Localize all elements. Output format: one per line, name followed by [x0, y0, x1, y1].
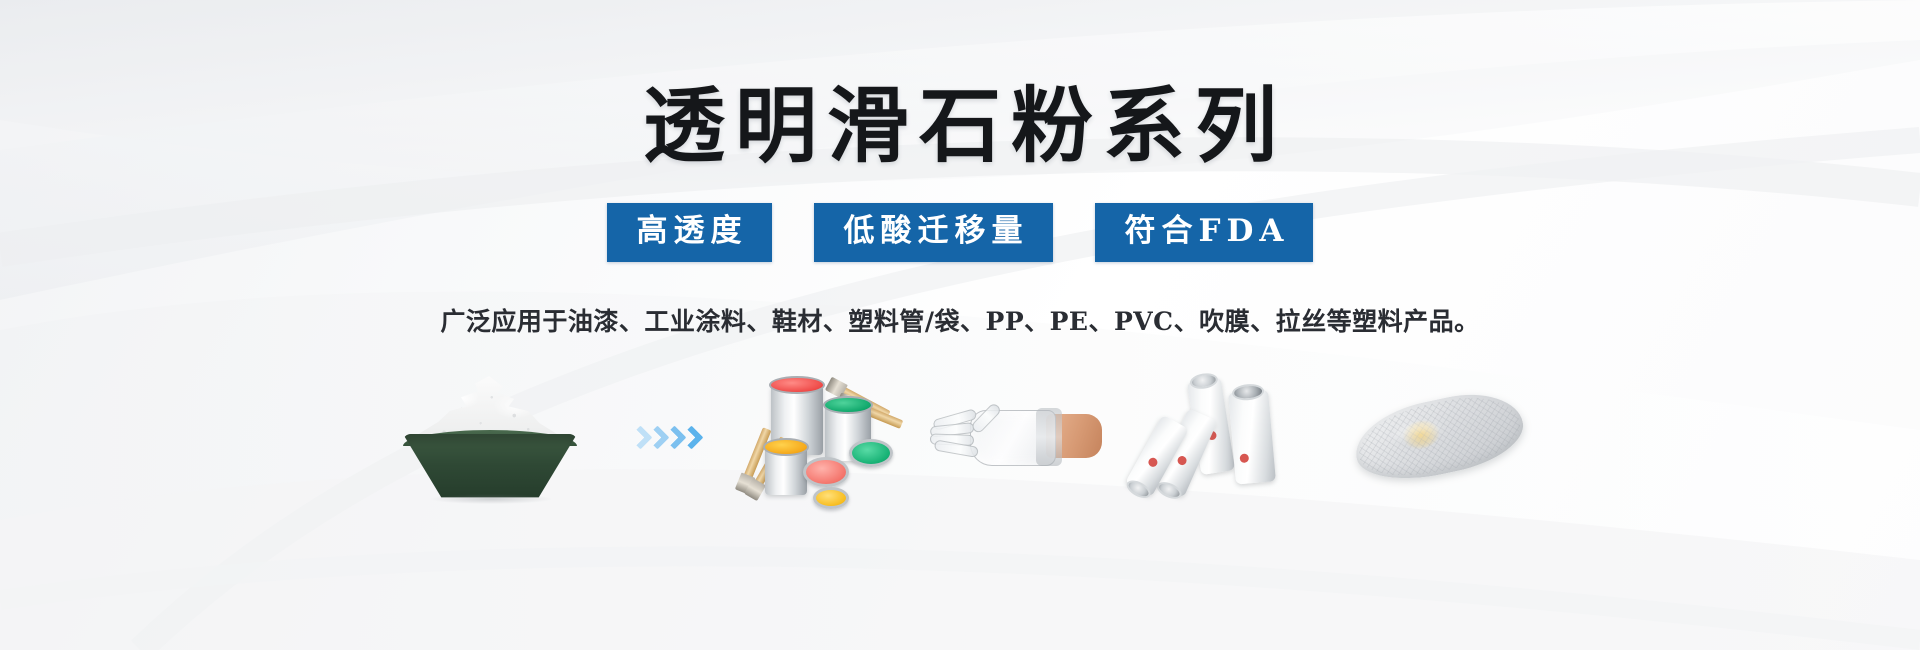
paint-can-icon: [735, 369, 905, 509]
banner-content: 透明滑石粉系列 高透度 低酸迁移量 符合FDA 广泛应用于油漆、工业涂料、鞋材、…: [0, 0, 1920, 650]
can-lid: [769, 376, 825, 394]
roll-core: [1231, 383, 1264, 402]
badge-low-acid-migration[interactable]: 低酸迁移量: [814, 203, 1053, 262]
paint-lid-green: [849, 439, 893, 467]
page-title: 透明滑石粉系列: [633, 84, 1287, 169]
film-roll-icon: [1140, 379, 1320, 499]
chevron-right-icon: [632, 426, 647, 452]
roll-core: [1124, 477, 1154, 502]
product-banner: 透明滑石粉系列 高透度 低酸迁移量 符合FDA 广泛应用于油漆、工业涂料、鞋材、…: [0, 0, 1920, 650]
chevron-right-icon: [666, 426, 681, 452]
badge-high-transparency[interactable]: 高透度: [607, 203, 772, 262]
sole-body: [1348, 383, 1530, 491]
glove-icon: [930, 384, 1110, 494]
paint-cans-image: [725, 364, 915, 514]
paint-lid-yellow: [813, 487, 849, 509]
chevron-right-icon: [683, 426, 698, 452]
talc-powder-bowl-image: [375, 364, 605, 514]
shoe-sole-icon: [1350, 384, 1530, 494]
roll-core: [1189, 371, 1219, 390]
paint-lid-pink: [803, 457, 849, 487]
roll-label-dot: [1176, 455, 1188, 467]
process-arrows: [605, 364, 725, 514]
roll-label-dot: [1147, 456, 1159, 468]
bowl-body: [403, 434, 577, 500]
plastic-glove-image: [915, 364, 1125, 514]
badge-fda-compliant[interactable]: 符合FDA: [1095, 203, 1314, 262]
application-description: 广泛应用于油漆、工业涂料、鞋材、塑料管/袋、PP、PE、PVC、吹膜、拉丝等塑料…: [440, 302, 1479, 338]
paint-can-yellow: [765, 447, 807, 495]
film-roll: [1228, 389, 1276, 484]
roll-label-dot: [1239, 453, 1249, 463]
can-lid: [823, 396, 873, 414]
powder-bowl-icon: [395, 376, 585, 502]
can-lid: [763, 438, 809, 456]
shoe-sole-image: [1335, 364, 1545, 514]
plastic-film-rolls-image: [1125, 364, 1335, 514]
chevron-right-icon-group: [632, 426, 698, 452]
glove-cuff: [1036, 408, 1062, 466]
product-application-strip: [360, 364, 1560, 514]
feature-badge-group: 高透度 低酸迁移量 符合FDA: [607, 203, 1314, 262]
chevron-right-icon: [649, 426, 664, 452]
bowl-shadow: [431, 494, 551, 504]
